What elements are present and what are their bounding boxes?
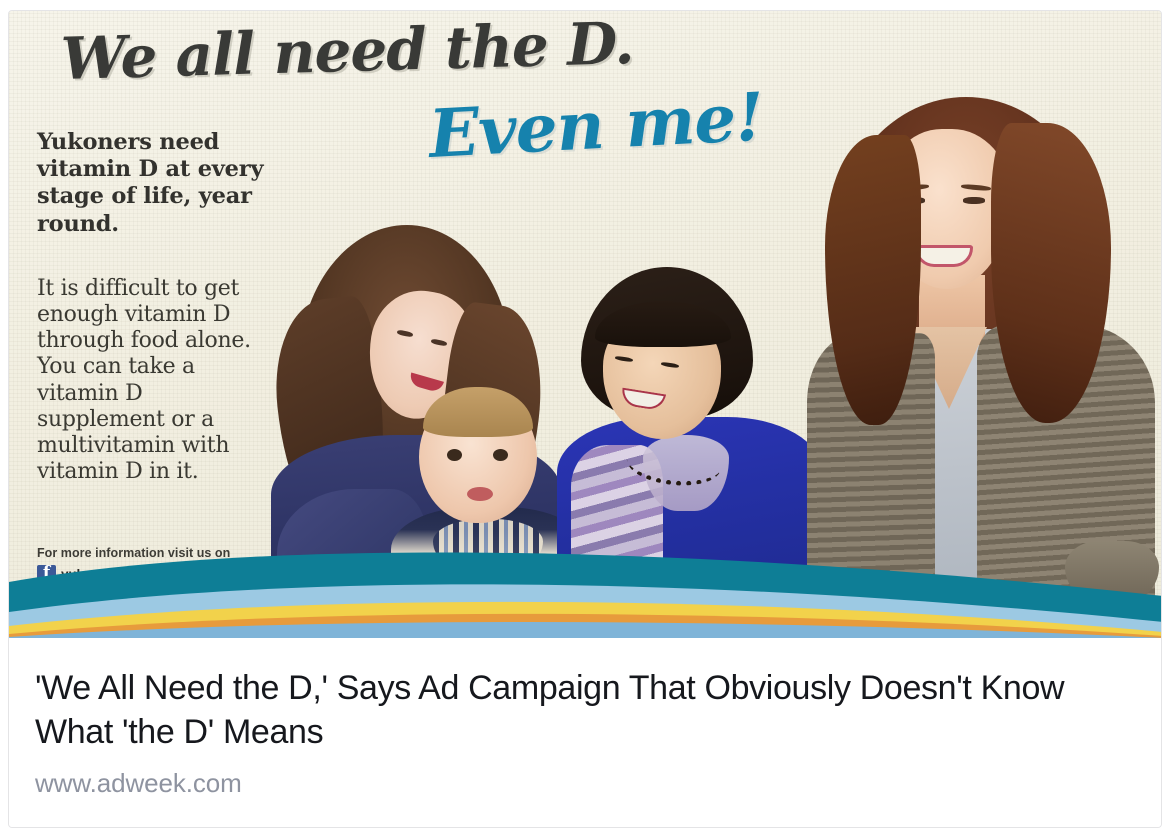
young-woman-eye-right <box>963 197 985 204</box>
baby-eye-left <box>447 449 462 461</box>
baby-eye-right <box>493 449 508 461</box>
ad-copy-column: Yukoners need vitamin D at every stage o… <box>37 129 265 485</box>
caption-url: www.adweek.com <box>35 768 1137 799</box>
wave-ribbon <box>9 552 1162 638</box>
ad-copy-lede: Yukoners need vitamin D at every stage o… <box>37 129 265 238</box>
caption-title: 'We All Need the D,' Says Ad Campaign Th… <box>35 666 1111 754</box>
link-preview-card[interactable]: how do you do the D ? We all need the D.… <box>8 10 1162 828</box>
caption-block[interactable]: 'We All Need the D,' Says Ad Campaign Th… <box>9 638 1162 828</box>
baby-hair <box>423 387 533 437</box>
young-woman-smile <box>915 245 973 267</box>
baby-mouth <box>467 487 493 501</box>
ad-image[interactable]: how do you do the D ? We all need the D.… <box>9 11 1162 638</box>
ad-copy-body: It is difficult to get enough vitamin D … <box>37 276 265 485</box>
